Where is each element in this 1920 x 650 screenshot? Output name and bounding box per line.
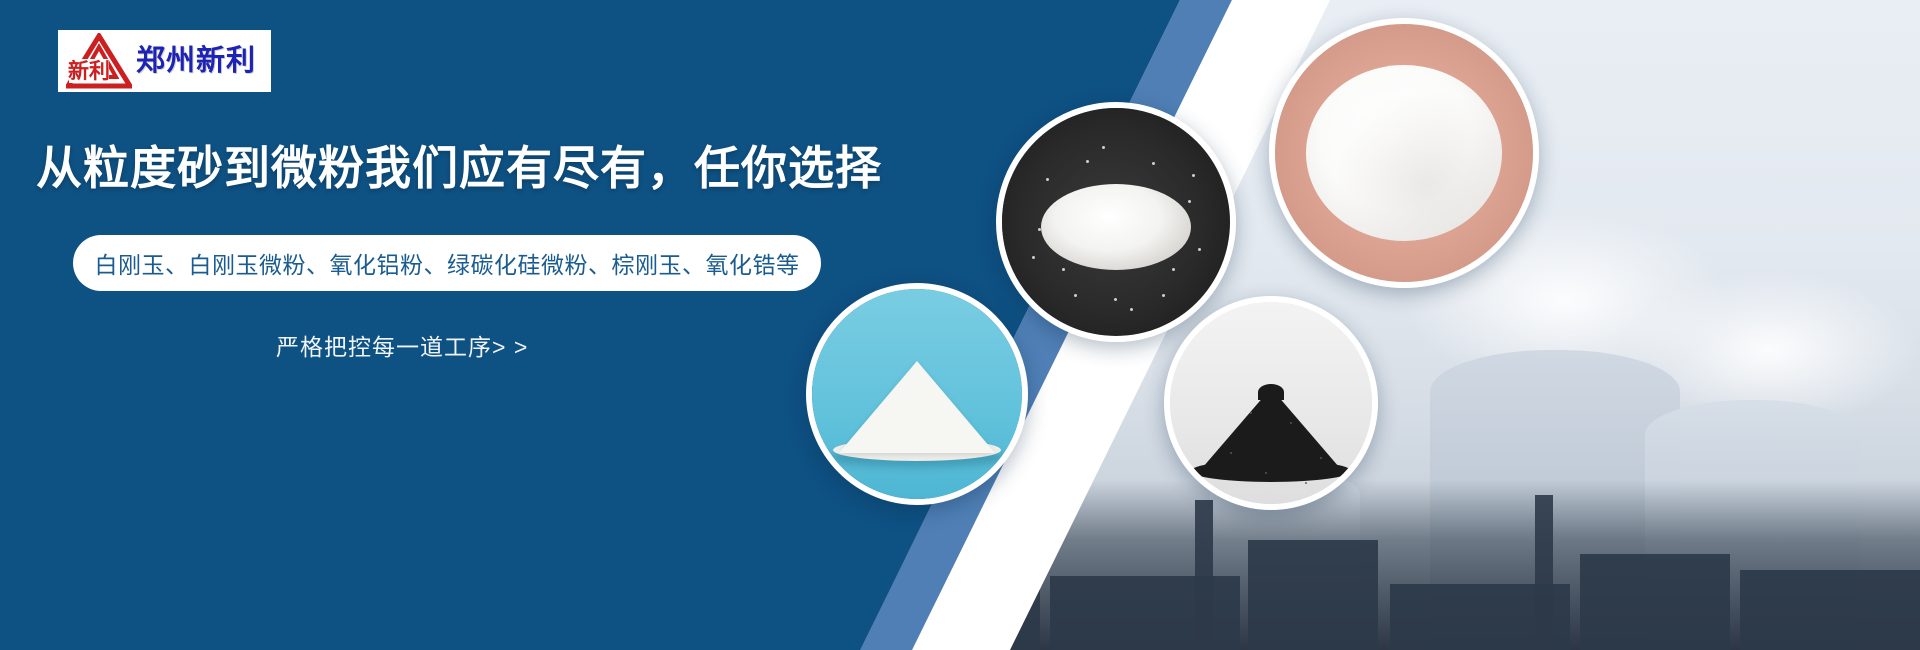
product-list-text: 白刚玉、白刚玉微粉、氧化铝粉、绿碳化硅微粉、棕刚玉、氧化锆等 <box>95 246 800 280</box>
product-photo-white-cone-cyan <box>806 283 1028 505</box>
grit-pile-shape <box>1197 388 1345 474</box>
factory-building-shape <box>1580 554 1730 650</box>
powder-cone-shape <box>839 361 995 453</box>
svg-text:新利: 新利 <box>68 59 110 83</box>
product-list-pill: 白刚玉、白刚玉微粉、氧化铝粉、绿碳化硅微粉、棕刚玉、氧化锆等 <box>73 235 821 291</box>
company-logo[interactable]: 新利 郑州新利 <box>58 30 271 92</box>
xinli-triangle-mark-icon: 新利 <box>66 33 132 89</box>
smokestack-shape <box>1195 500 1213 650</box>
grit-pile-top <box>1258 384 1284 400</box>
headline-title: 从粒度砂到微粉我们应有尽有，任你选择 <box>36 140 882 198</box>
logo-company-name: 郑州新利 <box>136 47 256 76</box>
factory-building-shape <box>1740 570 1920 650</box>
smokestack-shape <box>1535 495 1553 650</box>
powder-pile-shape <box>1306 65 1502 241</box>
tagline-link[interactable]: 严格把控每一道工序> > <box>276 328 528 362</box>
factory-building-shape <box>1248 540 1378 650</box>
product-photo-black-grit <box>1164 296 1378 510</box>
product-photo-white-powder-pink-dish <box>1269 18 1539 288</box>
promo-banner: 新利 郑州新利 从粒度砂到微粉我们应有尽有，任你选择 白刚玉、白刚玉微粉、氧化铝… <box>0 0 1920 650</box>
